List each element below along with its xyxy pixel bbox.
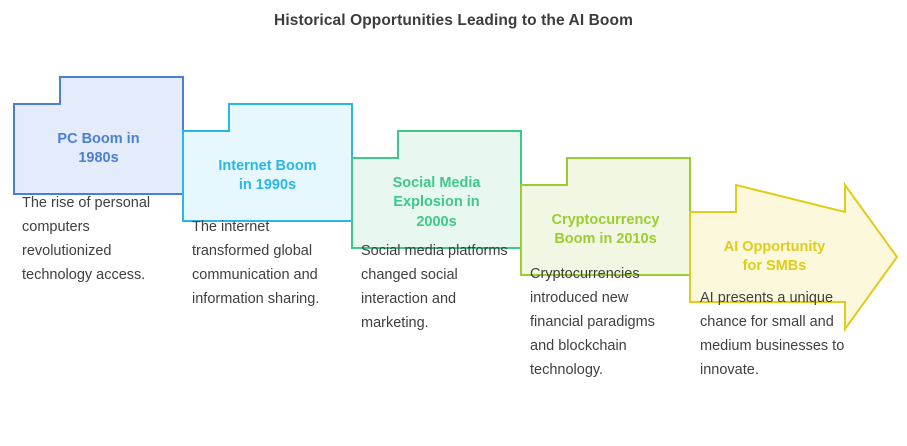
step-description-social-media-explosion-2000s: Social media platforms changed social in… — [361, 240, 513, 336]
step-shape-social-media-explosion-2000s[interactable] — [352, 131, 521, 248]
step-shape-pc-boom-1980s[interactable] — [14, 77, 183, 194]
step-description-internet-boom-1990s: The internet transformed global communic… — [192, 216, 344, 312]
step-shape-internet-boom-1990s[interactable] — [183, 104, 352, 221]
step-shape-cryptocurrency-boom-2010s[interactable] — [521, 158, 690, 275]
step-description-ai-opportunity-smbs: AI presents a unique chance for small an… — [700, 287, 852, 383]
step-description-cryptocurrency-boom-2010s: Cryptocurrencies introduced new financia… — [530, 263, 682, 383]
step-description-pc-boom-1980s: The rise of personal computers revolutio… — [22, 192, 174, 288]
infographic-canvas: Historical Opportunities Leading to the … — [0, 0, 907, 446]
process-flow-diagram: PC Boom in 1980sThe rise of personal com… — [0, 0, 907, 446]
